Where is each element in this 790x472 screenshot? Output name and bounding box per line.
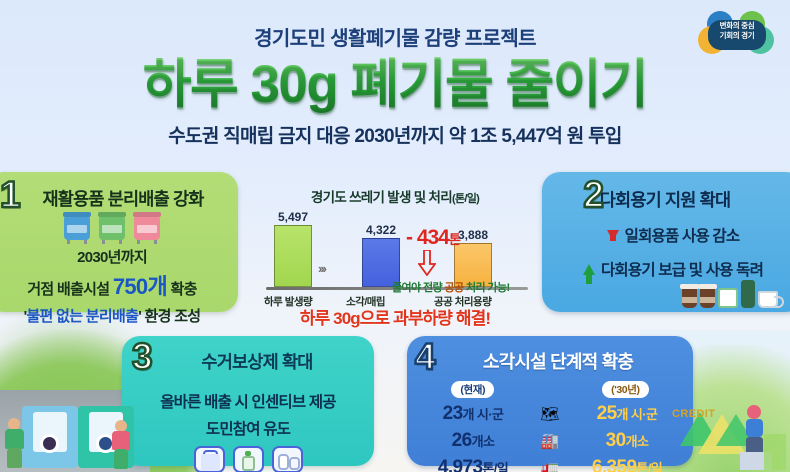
chart-plot: 5,497 ››› 4,322 3,888 - 434톤 줄여야 전량 공공 처…: [258, 210, 532, 290]
header-title: 하루 30g 폐기물 줄이기: [0, 57, 790, 113]
delta-unit: 톤: [449, 232, 460, 247]
down-arrow-icon: [607, 230, 619, 241]
note-highlight: 공공: [445, 282, 464, 294]
panel-3-icons: [122, 446, 374, 472]
chart-delta-annotation: - 434톤: [406, 226, 460, 250]
row-2-current-unit: 톤/일: [482, 461, 508, 472]
row-0-future-unit: 개 시·군: [617, 407, 658, 422]
illustration-recycling-room: [4, 398, 132, 472]
row-2-current: 4,973톤/일: [417, 457, 529, 472]
gyeonggi-logo: 변화의 중심 기회의 경기: [694, 8, 780, 60]
panel-4-number: 4: [415, 338, 436, 375]
panel-recycling-separation[interactable]: 1 재활용품 분리배출 강화 2030년까지 거점 배출시설 750개 확충 '…: [0, 172, 238, 312]
chart-note: 줄여야 전량 공공 처리 가능!: [392, 279, 510, 295]
chart-title: 경기도 쓰레기 발생 및 처리(톤/일): [258, 186, 532, 206]
chevrons-icon: ›››: [318, 261, 325, 276]
logo-line-1: 변화의 중심: [694, 21, 780, 31]
truck-icon: 🚛: [529, 461, 571, 472]
header: 경기도민 생활폐기물 감량 프로젝트 하루 30g 폐기물 줄이기 수도권 직매…: [0, 0, 790, 148]
row-0-future-number: 25: [597, 403, 617, 424]
facility-icon: 🏭: [529, 434, 571, 449]
chart-unit-label: (톤/일): [452, 193, 479, 205]
infographic-canvas: 경기도민 생활폐기물 감량 프로젝트 하루 30g 폐기물 줄이기 수도권 직매…: [0, 0, 790, 472]
panel-1-line-3: '불편 없는 분리배출' 환경 조성: [0, 305, 238, 326]
person-left: [4, 418, 26, 470]
row-0-current-unit: 개 시·군: [463, 407, 504, 422]
bin-blue-icon: [64, 216, 90, 240]
recycling-bins-icon: [0, 216, 238, 240]
bin-pink-icon: [134, 216, 160, 240]
illustration-recycling-credit: CREDIT: [668, 394, 788, 472]
row-1-current-unit: 개소: [472, 434, 495, 449]
bin-green-icon: [99, 216, 125, 240]
recycle-symbol-icon: [668, 394, 788, 472]
table-row: 26개소 🏭 30개소: [407, 430, 693, 452]
header-subtitle: 경기도민 생활폐기물 감량 프로젝트: [0, 22, 790, 51]
waste-chart: 경기도 쓰레기 발생 및 처리(톤/일) 5,497 ››› 4,322 3,8…: [258, 186, 532, 326]
bar-value-1: 4,322: [366, 223, 396, 237]
p1-l2-pre: 거점 배출시설: [27, 281, 113, 298]
panel-1-title: 재활용품 분리배출 강화: [8, 186, 238, 211]
panel-collection-reward[interactable]: 3 수거보상제 확대 올바른 배출 시 인센티브 제공 도민참여 유도: [122, 336, 374, 466]
row-2-future-unit: 톤/일: [636, 461, 662, 472]
row-0-current: 23개 시·군: [417, 403, 529, 425]
logo-line-2: 기회의 경기: [694, 31, 780, 41]
p1-l3-post: ' 환경 조성: [138, 308, 200, 325]
panel-2-row-2: 다회용기 보급 및 사용 독려: [542, 258, 790, 280]
lunchbox-icon: [718, 288, 738, 308]
row-1-future-number: 30: [606, 430, 626, 451]
person-right: [112, 420, 132, 470]
map-icon: 🗺: [529, 407, 571, 422]
row-1-future-unit: 개소: [626, 434, 649, 449]
header-note: 수도권 직매립 금지 대응 2030년까지 약 1조 5,447억 원 투입: [0, 121, 790, 148]
note-post: 처리 가능!: [464, 282, 510, 294]
row-0-future: 25개 시·군: [571, 403, 683, 425]
panel-3-line-1: 올바른 배출 시 인센티브 제공: [122, 390, 374, 412]
p1-l3-highlight: 불편 없는 분리배출: [26, 308, 138, 325]
paper-roll-icon: [272, 446, 303, 472]
panel-4-table: (현재) ('30년) 23개 시·군 🗺 25개 시·군 26개소 🏭 30개…: [407, 381, 693, 472]
table-row: 4,973톤/일 🚛 6,359톤/일: [407, 457, 693, 472]
drum-left: [40, 434, 59, 453]
row-1-current: 26개소: [417, 430, 529, 452]
panel-3-line-2: 도민참여 유도: [122, 417, 374, 439]
chart-title-text: 경기도 쓰레기 발생 및 처리: [311, 190, 452, 205]
logo-text: 변화의 중심 기회의 경기: [694, 21, 780, 41]
panel-1-line-2: 거점 배출시설 750개 확충: [0, 269, 238, 301]
column-header-current: (현재): [451, 381, 494, 398]
panel-2-title: 다회용기 지원 확대: [542, 187, 788, 212]
plastic-bag-icon: [194, 446, 225, 472]
delta-number: - 434: [406, 226, 449, 249]
row-2-future: 6,359톤/일: [571, 457, 683, 472]
row-2-future-number: 6,359: [592, 457, 637, 472]
panel-1-line-1: 2030년까지: [0, 246, 238, 267]
panel-4-column-headers: (현재) ('30년): [407, 381, 693, 398]
note-pre: 줄여야 전량: [392, 282, 445, 294]
column-header-2030: ('30년): [602, 381, 648, 398]
up-arrow-icon: [583, 264, 595, 275]
bar-daily-generation: 5,497: [274, 225, 312, 287]
row-1-current-number: 26: [452, 430, 472, 451]
row-2-current-number: 4,973: [438, 457, 483, 472]
panel-2-row-2-label: 다회용기 보급 및 사용 독려: [601, 258, 763, 280]
reusable-containers-icon: [682, 280, 778, 308]
pet-bottle-icon: [233, 446, 264, 472]
panel-2-row-1: 일회용품 사용 감소: [542, 224, 790, 246]
tumbler-icon: [741, 280, 755, 308]
panel-2-row-1-label: 일회용품 사용 감소: [625, 224, 740, 246]
coffee-cup-icon: [682, 288, 697, 308]
panel-4-title: 소각시설 단계적 확충: [423, 348, 693, 374]
bar-value-2: 3,888: [458, 228, 488, 242]
chart-down-arrow-icon: [418, 250, 436, 276]
table-row: 23개 시·군 🗺 25개 시·군: [407, 403, 693, 425]
row-0-current-number: 23: [443, 403, 463, 424]
coffee-cup-icon-2: [700, 288, 715, 308]
panel-reusable-containers[interactable]: 2 다회용기 지원 확대 일회용품 사용 감소 다회용기 보급 및 사용 독려: [542, 172, 790, 312]
panel-1-number: 1: [0, 176, 21, 213]
p1-l2-number: 750개: [113, 274, 167, 299]
panel-3-title: 수거보상제 확대: [140, 349, 374, 374]
row-1-future: 30개소: [571, 430, 683, 452]
panel-3-number: 3: [132, 338, 153, 375]
chart-footer: 하루 30g으로 과부하량 해결!: [258, 304, 532, 329]
bar-value-0: 5,497: [278, 210, 308, 224]
panel-incineration-expansion[interactable]: 4 소각시설 단계적 확충 (현재) ('30년) 23개 시·군 🗺 25개 …: [407, 336, 693, 466]
mug-icon: [758, 291, 778, 308]
p1-l2-post: 확충: [167, 281, 197, 298]
credit-label: CREDIT: [672, 408, 715, 420]
panel-2-number: 2: [583, 176, 604, 213]
